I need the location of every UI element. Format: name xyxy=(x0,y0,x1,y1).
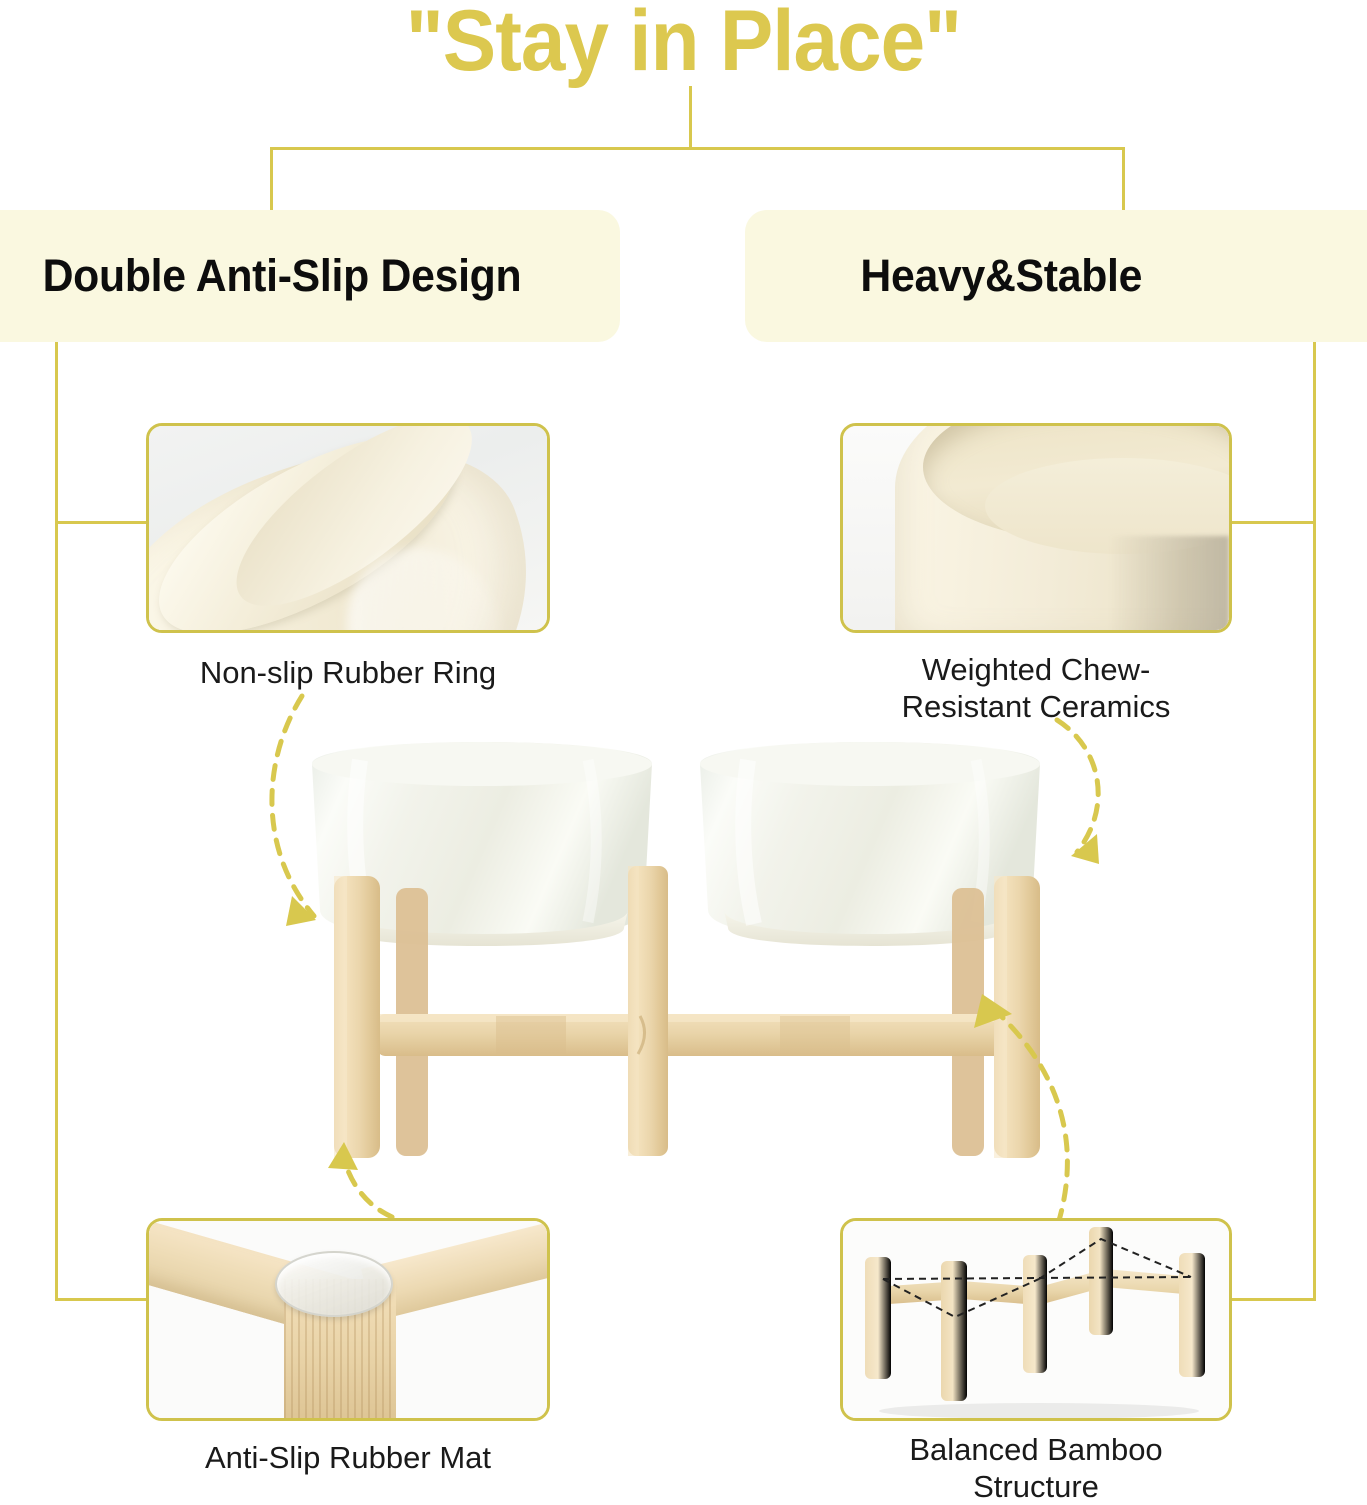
leg-2 xyxy=(941,1261,967,1401)
header-right-label: Heavy&Stable xyxy=(860,250,1142,302)
connector-top-left-drop xyxy=(270,147,273,213)
photo-non-slip-rubber-ring xyxy=(146,423,550,633)
leg-4 xyxy=(1089,1227,1113,1335)
ceramic-bowl-cavity xyxy=(923,423,1232,542)
connector-title-stem xyxy=(689,86,692,150)
caption-non-slip-rubber-ring: Non-slip Rubber Ring xyxy=(146,655,550,692)
connector-left-lower-branch xyxy=(55,1298,148,1301)
rubber-pad xyxy=(275,1251,393,1317)
dashed-curved-arrow-icon-bottom-right xyxy=(930,980,1090,1230)
connector-right-lower-branch xyxy=(1229,1298,1316,1301)
dashed-curved-arrow-icon-bottom-left xyxy=(298,1140,428,1230)
infographic-canvas: "Stay in Place" Double Anti-Slip Design … xyxy=(0,0,1367,1500)
caption-line-1: Anti-Slip Rubber Mat xyxy=(205,1440,491,1475)
connector-right-upper-branch xyxy=(1229,521,1316,524)
photo-weighted-chew-resistant-ceramics xyxy=(840,423,1232,633)
header-left-label: Double Anti-Slip Design xyxy=(43,250,522,302)
leg-5 xyxy=(1179,1253,1205,1377)
leg-1 xyxy=(865,1257,891,1379)
connector-top-bar xyxy=(270,147,1125,150)
bamboo-frame-diagram xyxy=(843,1221,1232,1421)
caption-anti-slip-rubber-mat: Anti-Slip Rubber Mat xyxy=(146,1440,550,1477)
caption-line-1: Balanced Bamboo xyxy=(909,1432,1162,1467)
caption-line-1: Non-slip Rubber Ring xyxy=(200,655,496,690)
right-bowl xyxy=(700,742,1040,946)
header-heavy-and-stable: Heavy&Stable xyxy=(745,210,1367,342)
leg-3 xyxy=(1023,1255,1047,1373)
connector-top-right-drop xyxy=(1122,147,1125,213)
caption-line-2: Structure xyxy=(973,1469,1099,1504)
photo-anti-slip-rubber-mat xyxy=(146,1218,550,1421)
caption-balanced-bamboo-structure: Balanced Bamboo Structure xyxy=(840,1432,1232,1505)
photo-edge-shadow xyxy=(1109,536,1229,633)
connector-left-upper-branch xyxy=(55,521,148,524)
page-title: "Stay in Place" xyxy=(48,0,1319,89)
photo-balanced-bamboo-structure xyxy=(840,1218,1232,1421)
connector-right-spine xyxy=(1313,342,1316,1300)
caption-line-1: Weighted Chew- xyxy=(922,652,1151,687)
connector-left-spine xyxy=(55,342,58,1300)
header-double-anti-slip-design: Double Anti-Slip Design xyxy=(0,210,620,342)
